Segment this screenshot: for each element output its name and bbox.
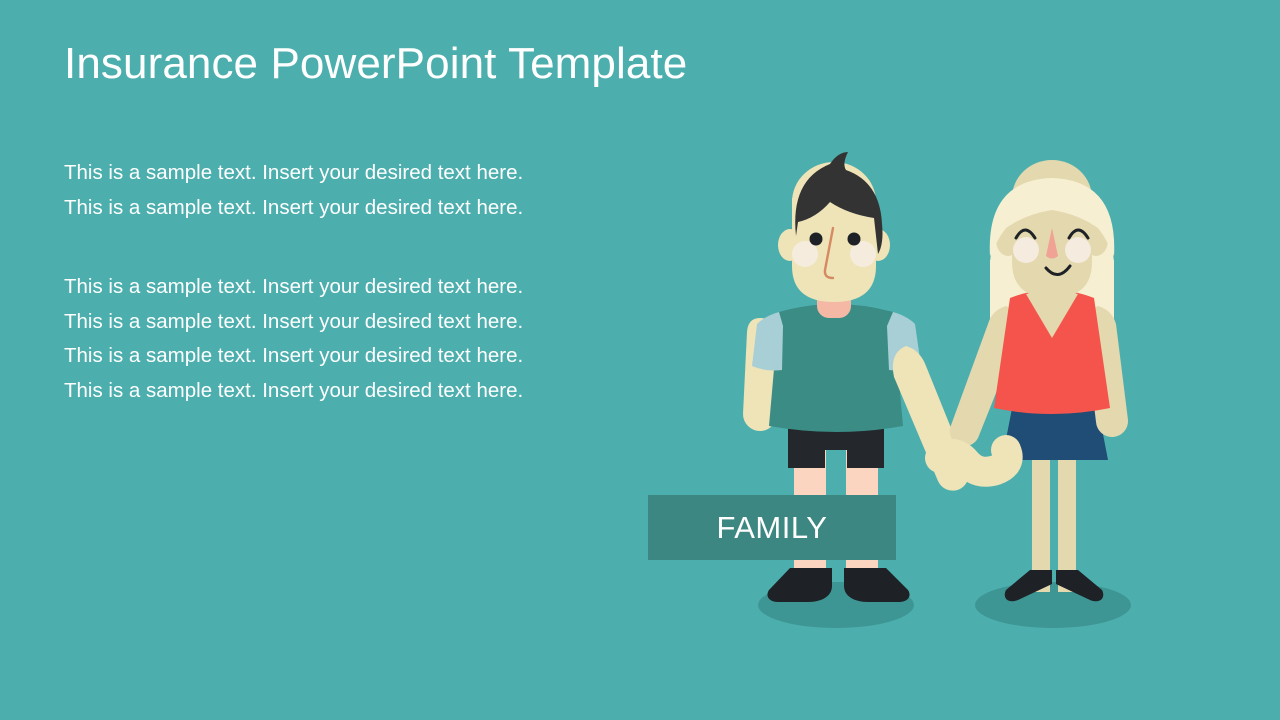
slide-canvas: Insurance PowerPoint Template This is a … (0, 0, 1280, 720)
family-illustration (640, 150, 1200, 650)
held-hands (940, 450, 1008, 484)
male-left-shoe (767, 568, 832, 602)
male-shirt (769, 304, 903, 432)
family-banner[interactable]: FAMILY (648, 495, 896, 560)
page-title: Insurance PowerPoint Template (64, 36, 604, 92)
male-left-eye (810, 233, 823, 246)
female-left-blush (1013, 237, 1039, 263)
body-paragraph-2: This is a sample text. Insert your desir… (64, 270, 564, 408)
body-paragraph-1: This is a sample text. Insert your desir… (64, 156, 564, 225)
text-column: Insurance PowerPoint Template This is a … (64, 36, 604, 408)
female-shadow (975, 582, 1131, 628)
female-right-blush (1065, 237, 1091, 263)
male-right-shoe (844, 568, 910, 602)
family-banner-label: FAMILY (717, 512, 828, 543)
male-right-eye (848, 233, 861, 246)
female-character (950, 160, 1128, 601)
